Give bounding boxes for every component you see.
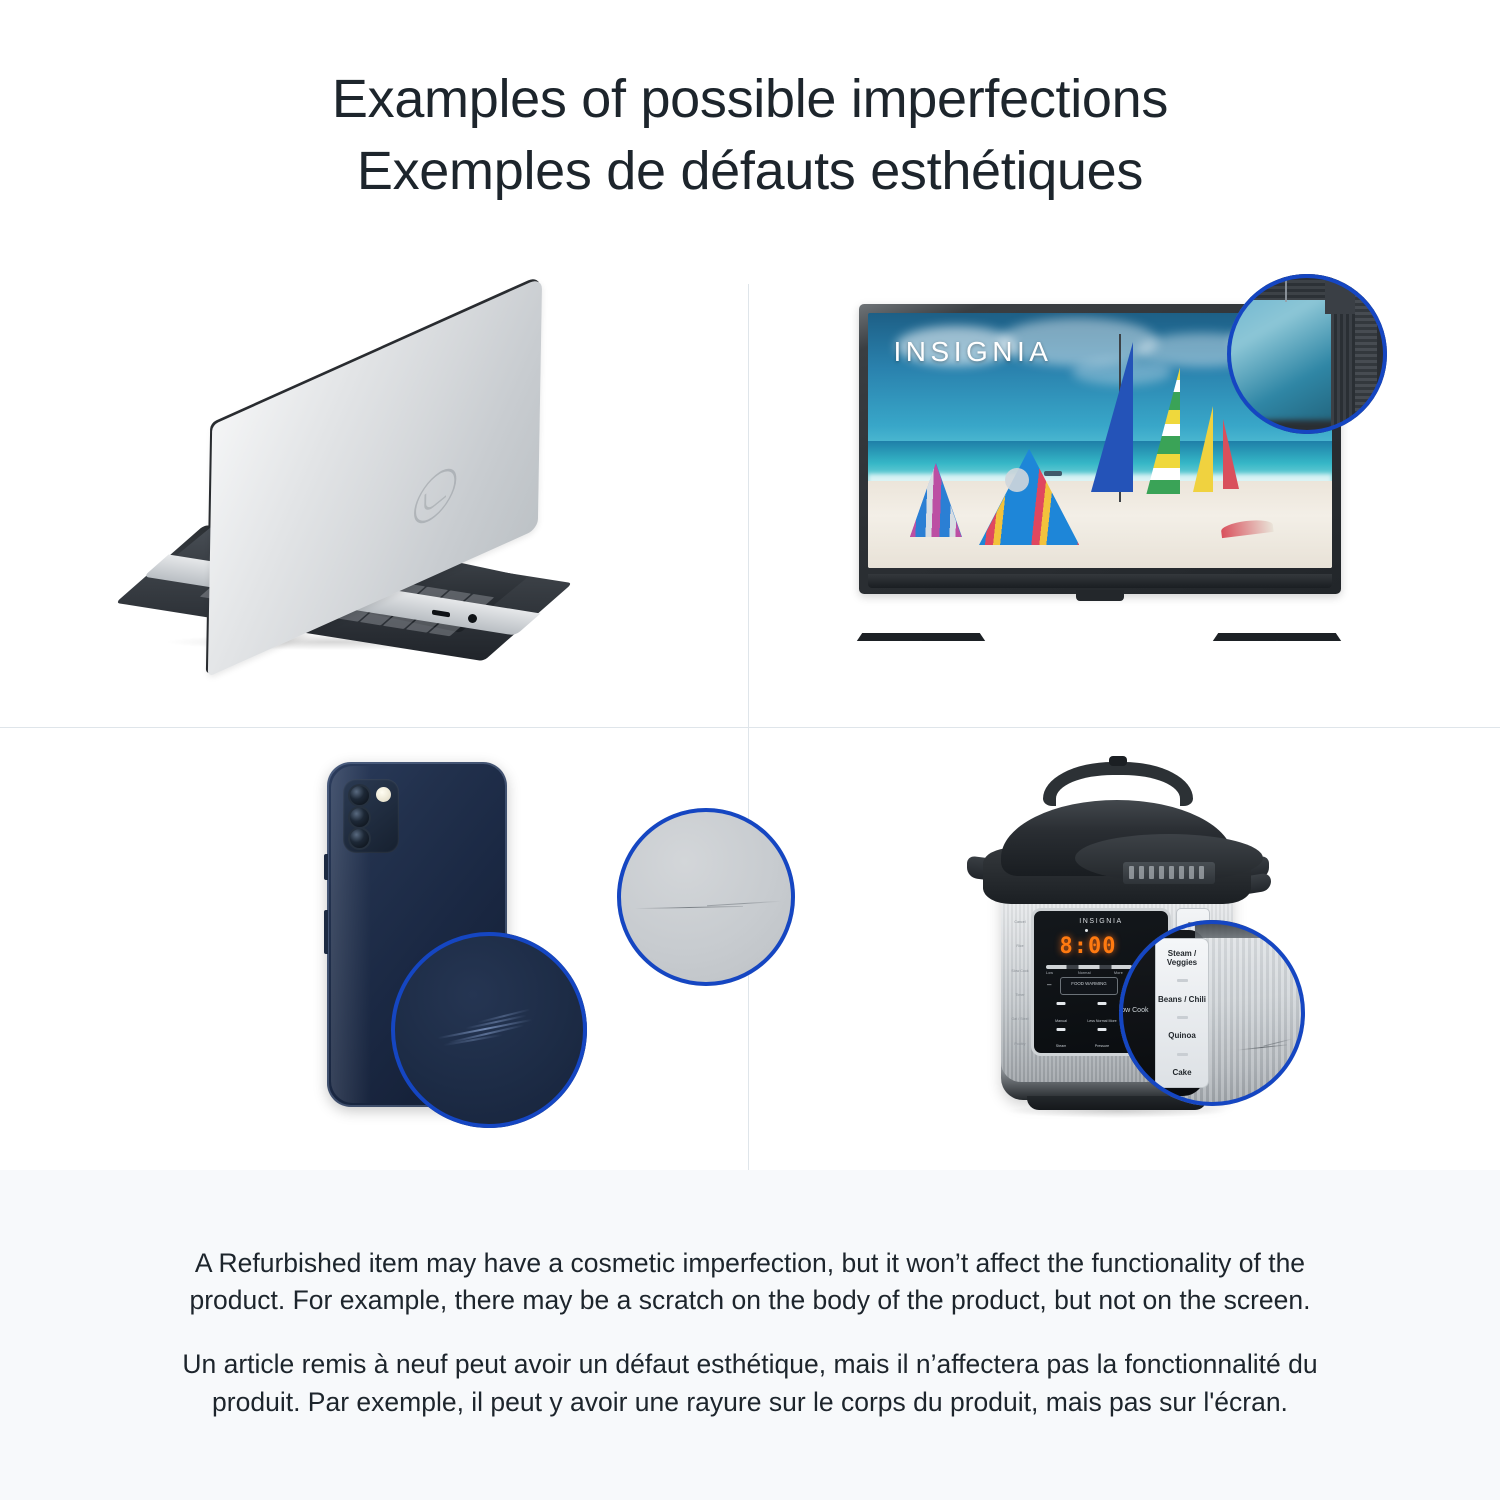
cooker-food-warming-button[interactable]: FOOD WARMING bbox=[1060, 977, 1118, 995]
camera-lens-2-icon bbox=[348, 806, 371, 829]
smartphone-magnifier-circle bbox=[391, 932, 587, 1128]
cooker-magnifier-button-cake: Cake bbox=[1172, 1068, 1191, 1077]
cooker-scratch-icon bbox=[1237, 1040, 1293, 1054]
laptop-brand-logo-icon bbox=[414, 458, 457, 535]
tv-bottom-bar bbox=[868, 574, 1332, 588]
camera-lens-1-icon bbox=[348, 784, 371, 807]
tv-screen-sail-yellow bbox=[1193, 406, 1213, 492]
page-title: Examples of possible imperfections Exemp… bbox=[0, 0, 1500, 262]
page-title-english: Examples of possible imperfections bbox=[332, 63, 1168, 135]
tv-screen-sail-blue bbox=[1091, 342, 1133, 492]
cooker-bar-label-low: Low bbox=[1046, 971, 1053, 975]
cooker-lid-handle[interactable] bbox=[1043, 762, 1193, 806]
footer-description: A Refurbished item may have a cosmetic i… bbox=[0, 1170, 1500, 1500]
tv-brand-logo: INSIGNIA bbox=[894, 336, 1053, 368]
footer-paragraph-french: Un article remis à neuf peut avoir un dé… bbox=[180, 1346, 1320, 1421]
smartphone-scratch-icon bbox=[437, 1012, 545, 1046]
cooker-indicator-dot bbox=[1085, 929, 1088, 932]
tv-magnifier-bezel-side bbox=[1355, 288, 1377, 434]
laptop-magnifier-circle bbox=[617, 808, 795, 986]
grid-cell-pressure-cooker: Cancel Rice Slow Cook Timer Oat / Steel … bbox=[749, 728, 1500, 1170]
refurbished-imperfections-infographic: Examples of possible imperfections Exemp… bbox=[0, 0, 1500, 1500]
cooker-bar-label-normal: Normal bbox=[1078, 971, 1091, 975]
cooker-magnifier-left-labels: Delay Slow Cook bbox=[1119, 964, 1151, 1014]
cooker-key-pressure[interactable]: Pressure bbox=[1083, 1027, 1121, 1050]
cooker-magnifier-buttons: Steam / Veggies Beans / Chili Quinoa Cak… bbox=[1155, 938, 1209, 1088]
grid-cell-laptop bbox=[0, 262, 748, 727]
cooker-magnifier-button-steam-veggies: Steam / Veggies bbox=[1156, 949, 1208, 967]
smartphone-power-button bbox=[324, 910, 328, 954]
cooker-magnifier-circle: Delay Slow Cook Steam / Veggies Beans / … bbox=[1119, 920, 1305, 1106]
laptop-illustration bbox=[150, 342, 670, 662]
cooker-magnifier-button-quinoa: Quinoa bbox=[1168, 1031, 1196, 1040]
cooker-lid bbox=[1001, 800, 1233, 876]
camera-flash-icon bbox=[376, 787, 391, 802]
grid-cell-television: INSIGNIA bbox=[749, 262, 1500, 727]
tv-magnifier-circle bbox=[1227, 274, 1387, 434]
cooker-key-manual[interactable]: Manual bbox=[1042, 1001, 1080, 1024]
cooker-minus-button[interactable]: – bbox=[1047, 981, 1051, 989]
cooker-steam-valve-icon[interactable] bbox=[1109, 756, 1127, 766]
smartphone-camera-module bbox=[343, 779, 399, 853]
smartphone-illustration bbox=[285, 762, 565, 1142]
cooker-lid-vent-panel bbox=[1123, 862, 1215, 884]
tv-center-nub bbox=[1076, 590, 1124, 601]
smartphone-volume-button bbox=[324, 854, 328, 880]
cooker-magnifier-button-beans-chili: Beans / Chili bbox=[1158, 995, 1206, 1004]
tv-magnifier-screen-area bbox=[1227, 288, 1337, 420]
camera-lens-3-icon bbox=[348, 827, 371, 850]
laptop-round-port bbox=[468, 614, 477, 623]
footer-paragraph-english: A Refurbished item may have a cosmetic i… bbox=[180, 1245, 1320, 1320]
tv-screen-sail-red bbox=[1223, 419, 1239, 489]
cooker-key-less-normal-more[interactable]: Less Normal More bbox=[1083, 1001, 1121, 1024]
cooker-left-labels: Cancel Rice Slow Cook Timer Oat / Steel … bbox=[1011, 910, 1029, 1056]
cooker-led-display: 8:00 bbox=[1056, 935, 1120, 959]
examples-grid: INSIGNIA bbox=[0, 262, 1500, 1170]
television-illustration: INSIGNIA bbox=[859, 304, 1359, 664]
pressure-cooker-illustration: Cancel Rice Slow Cook Timer Oat / Steel … bbox=[949, 752, 1309, 1152]
laptop-scratch-icon bbox=[635, 902, 781, 909]
cooker-magnifier-top-edge bbox=[1195, 920, 1305, 938]
tv-screen-kite-circle bbox=[1005, 468, 1029, 492]
page-title-french: Exemples de défauts esthétiques bbox=[357, 135, 1143, 207]
cooker-key-steam[interactable]: Steam bbox=[1042, 1027, 1080, 1050]
tv-magnifier-scratch-icon bbox=[1285, 276, 1287, 302]
cooker-brand-logo: INSIGNIA bbox=[1034, 918, 1168, 925]
